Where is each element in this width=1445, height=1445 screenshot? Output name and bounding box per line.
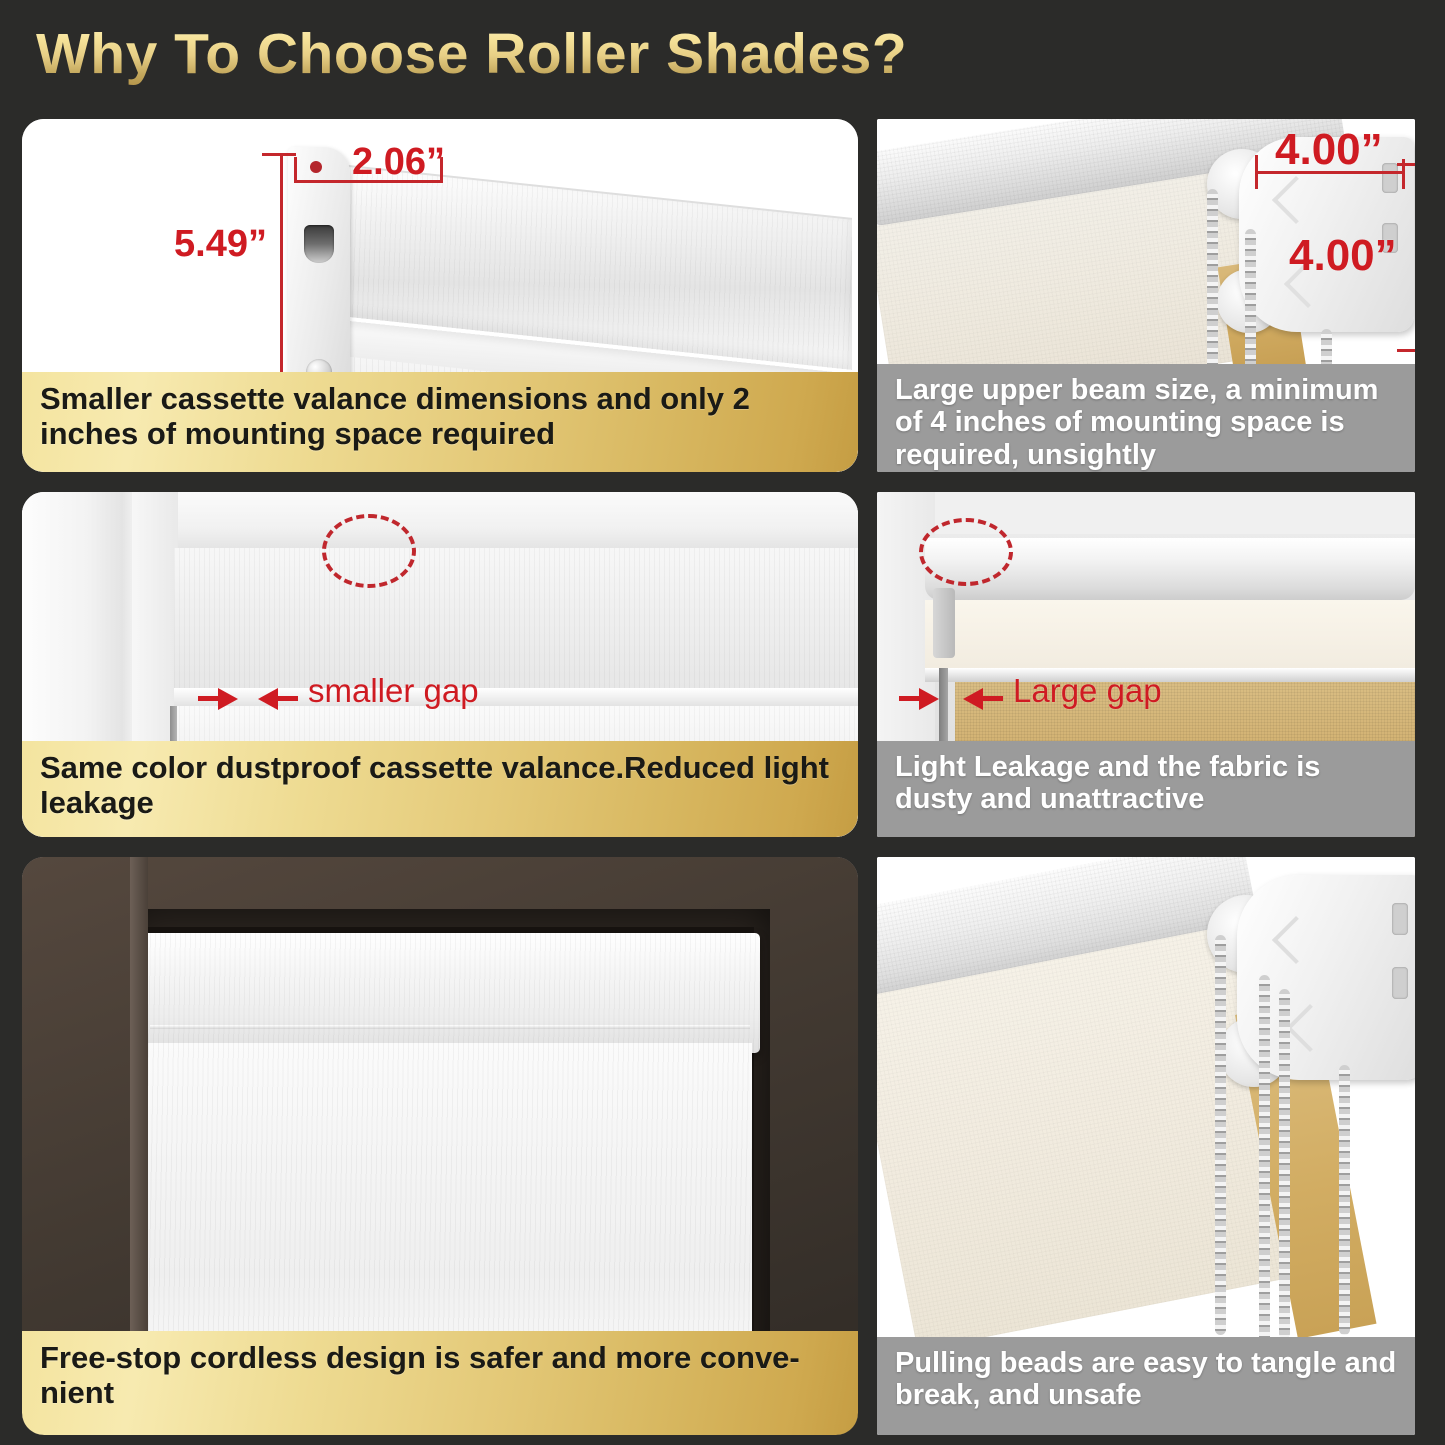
page-title: Why To Choose Roller Shades? bbox=[36, 18, 1136, 90]
panel-cordless-design: Free-stop cordless design is safer and m… bbox=[22, 857, 858, 1435]
gap-arrow-right bbox=[919, 688, 939, 710]
width-dimension-label: 2.06” bbox=[352, 141, 445, 184]
panel-caption: Smaller cassette valance dimensions and … bbox=[22, 372, 858, 472]
large-gap-label: Large gap bbox=[1013, 672, 1162, 710]
panel-cassette-dimensions: 2.06” 5.49” Smaller cassette valance dim… bbox=[22, 119, 858, 472]
beam-height-tick-top bbox=[1397, 163, 1415, 166]
panel-caption: Pulling beads are easy to tangle and bre… bbox=[877, 1337, 1415, 1435]
gap-arrow-left bbox=[963, 688, 983, 710]
beam-height-label: 4.00” bbox=[1289, 231, 1397, 281]
bead-chain-right bbox=[1339, 1065, 1350, 1335]
beam-height-tick-bottom bbox=[1397, 349, 1415, 352]
panel-large-upper-beam: 4.00” 4.00” Large upper beam size, a min… bbox=[877, 119, 1415, 472]
gap-arrow-stem-right bbox=[981, 696, 1003, 701]
valance-face bbox=[174, 548, 858, 688]
height-dim-tick-top bbox=[262, 153, 296, 156]
gap-arrow-stem-left bbox=[198, 696, 220, 701]
bead-chain-mid2 bbox=[1279, 989, 1290, 1339]
bead-chain-left bbox=[1215, 935, 1226, 1335]
gap-arrow-stem-left bbox=[899, 696, 921, 701]
cream-band bbox=[925, 600, 1415, 668]
mounting-clip bbox=[933, 588, 955, 658]
infographic-page: Why To Choose Roller Shades? 2.06” 5.49” bbox=[0, 0, 1445, 1445]
cassette-valance bbox=[140, 933, 760, 1053]
panel-caption: Same color dustproof cassette valance.Re… bbox=[22, 741, 858, 837]
smaller-gap-label: smaller gap bbox=[308, 672, 479, 710]
gap-arrow-stem-right bbox=[276, 696, 298, 701]
shade-fabric bbox=[148, 1043, 752, 1353]
beam-width-label: 4.00” bbox=[1275, 125, 1383, 175]
panel-caption: Light Leakage and the fabric is dusty an… bbox=[877, 741, 1415, 837]
beam-width-tick-left bbox=[1255, 155, 1258, 189]
width-dim-tick-left bbox=[294, 157, 297, 183]
gap-arrow-left bbox=[258, 688, 278, 710]
gap-arrow-right bbox=[218, 688, 238, 710]
highlight-circle bbox=[919, 518, 1013, 586]
rail bbox=[925, 668, 1415, 682]
bead-chain-mid bbox=[1259, 975, 1270, 1345]
panel-smaller-gap: smaller gap Same color dustproof cassett… bbox=[22, 492, 858, 837]
panel-caption: Free-stop cordless design is safer and m… bbox=[22, 1331, 858, 1435]
panel-pulling-beads: Pulling beads are easy to tangle and bre… bbox=[877, 857, 1415, 1435]
highlight-circle bbox=[322, 514, 416, 588]
height-dimension-label: 5.49” bbox=[174, 223, 267, 266]
panel-light-leakage: Large gap Light Leakage and the fabric i… bbox=[877, 492, 1415, 837]
panel-caption: Large upper beam size, a minimum of 4 in… bbox=[877, 364, 1415, 472]
